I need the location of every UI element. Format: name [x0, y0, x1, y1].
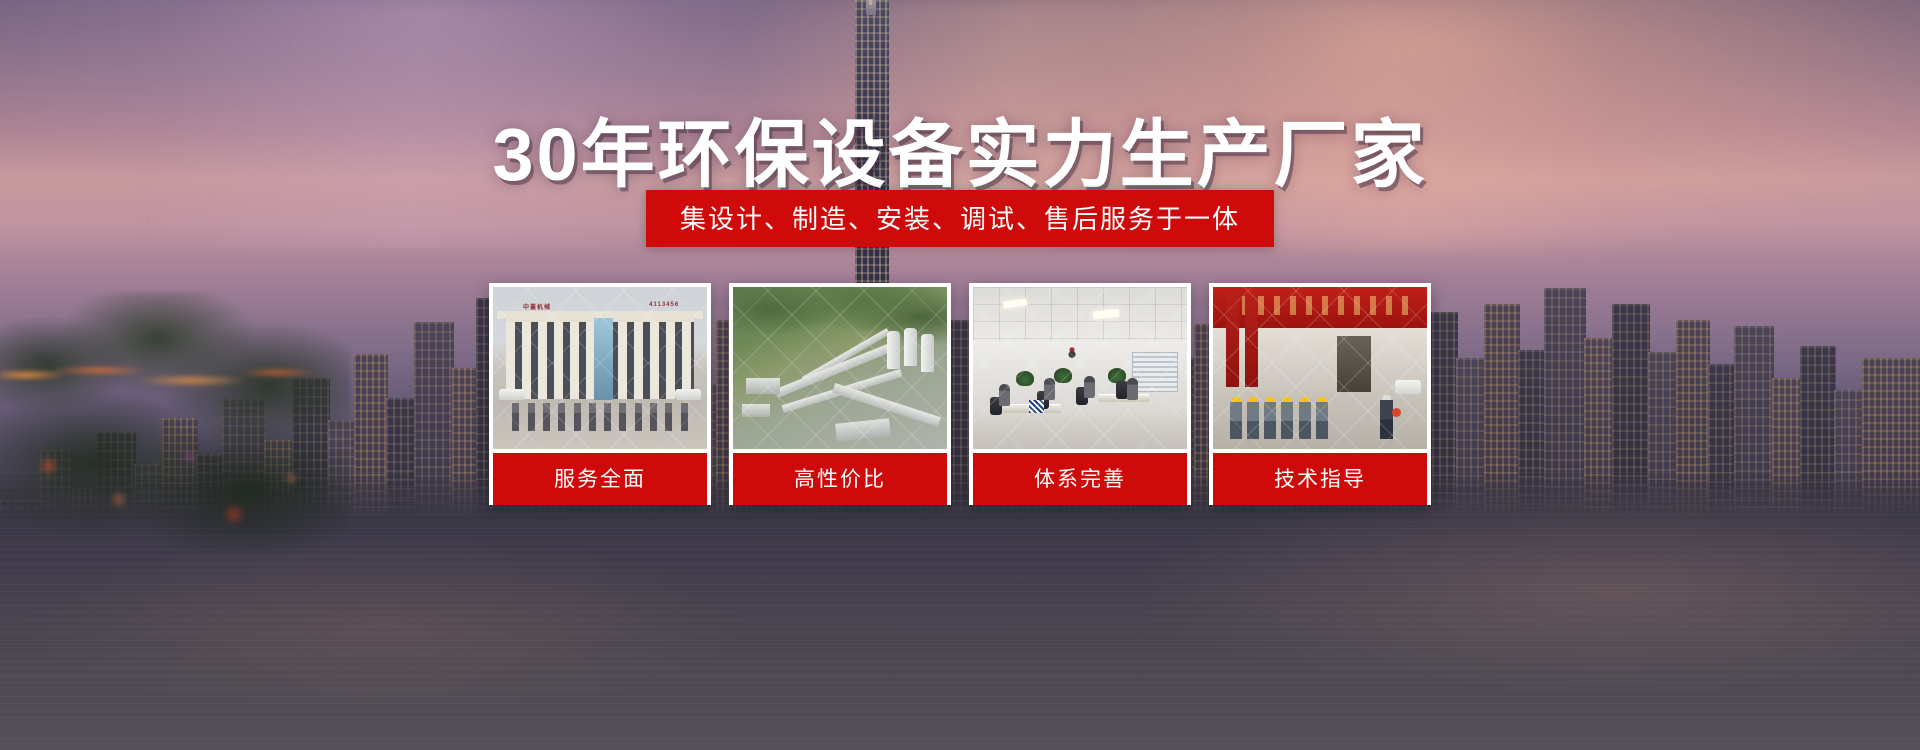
card-photo-aerial-plant	[733, 287, 947, 449]
card-photo-office-interior	[973, 287, 1187, 449]
card-caption-system: 体系完善	[973, 453, 1187, 505]
card-photo-workshop-workers	[1213, 287, 1427, 449]
subtitle-container: 集设计、制造、安装、调试、售后服务于一体	[0, 190, 1920, 247]
feature-card-value[interactable]: 高性价比	[729, 283, 951, 505]
banner-subtitle-badge: 集设计、制造、安装、调试、售后服务于一体	[646, 190, 1274, 247]
building-sign-text: 中蓋机械	[523, 302, 551, 311]
card-caption-guidance: 技术指导	[1213, 453, 1427, 505]
building-phone-text: 4113456	[649, 302, 679, 308]
hero-banner: 30年环保设备实力生产厂家 集设计、制造、安装、调试、售后服务于一体 中蓋机械 …	[0, 0, 1920, 750]
feature-card-guidance[interactable]: 技术指导	[1209, 283, 1431, 505]
card-caption-service: 服务全面	[493, 453, 707, 505]
banner-content: 30年环保设备实力生产厂家 集设计、制造、安装、调试、售后服务于一体 中蓋机械 …	[0, 0, 1920, 750]
feature-card-service[interactable]: 中蓋机械 4113456 服务全面	[489, 283, 711, 505]
wall-logo-art	[1061, 345, 1083, 362]
banner-headline: 30年环保设备实力生产厂家	[0, 95, 1920, 202]
feature-card-list: 中蓋机械 4113456 服务全面	[0, 283, 1920, 505]
card-caption-value: 高性价比	[733, 453, 947, 505]
feature-card-system[interactable]: 体系完善	[969, 283, 1191, 505]
card-photo-office-building: 中蓋机械 4113456	[493, 287, 707, 449]
